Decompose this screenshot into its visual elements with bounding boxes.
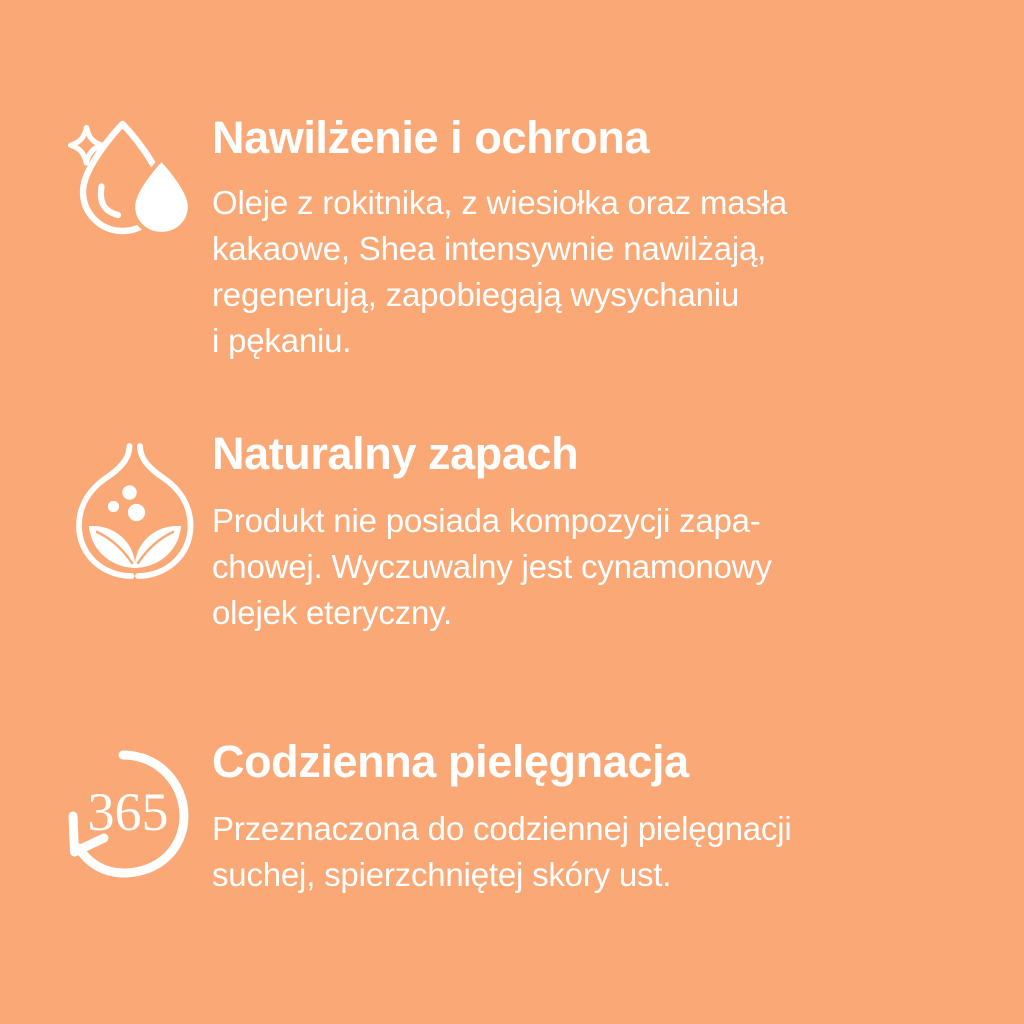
feature-title: Nawilżenie i ochrona	[212, 112, 966, 164]
feature-body: Przeznaczona do codziennej pielęgnacji s…	[212, 806, 966, 898]
circular-arrow-365-icon: 365	[66, 744, 198, 884]
feature-text-hydration: Nawilżenie i ochrona Oleje z rokitnika, …	[212, 112, 966, 364]
feature-block-scent: Naturalny zapach Produkt nie posiada kom…	[66, 428, 966, 636]
benefits-poster: Nawilżenie i ochrona Oleje z rokitnika, …	[0, 0, 1024, 1024]
feature-block-daily-care: 365 Codzienna pielęgnacja Przeznaczona d…	[66, 736, 966, 898]
feature-block-hydration: Nawilżenie i ochrona Oleje z rokitnika, …	[66, 112, 966, 364]
aroma-droplet-leaves-icon	[66, 442, 198, 592]
feature-body: Oleje z rokitnika, z wiesiołka oraz masł…	[212, 180, 966, 364]
feature-text-scent: Naturalny zapach Produkt nie posiada kom…	[212, 428, 966, 636]
feature-body: Produkt nie posiada kompozycji zapa- cho…	[212, 498, 966, 636]
feature-title: Naturalny zapach	[212, 428, 966, 480]
icon-365-label: 365	[88, 782, 169, 842]
feature-title: Codzienna pielęgnacja	[212, 736, 966, 788]
feature-text-daily-care: Codzienna pielęgnacja Przeznaczona do co…	[212, 736, 966, 898]
water-droplets-sparkle-icon	[66, 118, 198, 240]
